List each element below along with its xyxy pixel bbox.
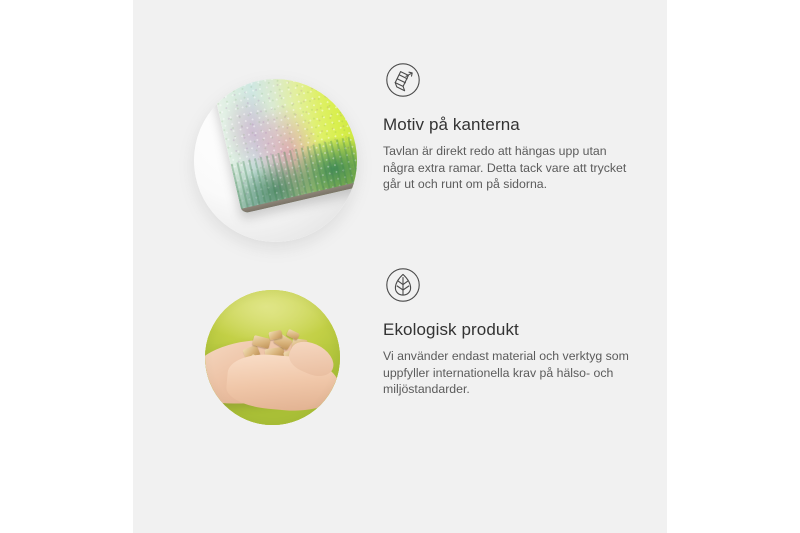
leaf-icon xyxy=(383,265,423,305)
feature-edge-print: Motiv på kanterna Tavlan är direkt redo … xyxy=(133,60,667,275)
feature-title: Motiv på kanterna xyxy=(383,114,663,136)
feature-description: Vi använder endast material och verktyg … xyxy=(383,348,641,398)
feature-text-block: Ekologisk produkt Vi använder endast mat… xyxy=(383,265,663,398)
feature-text-block: Motiv på kanterna Tavlan är direkt redo … xyxy=(383,60,663,193)
feature-eco-product: Ekologisk produkt Vi använder endast mat… xyxy=(133,265,667,480)
feature-title: Ekologisk produkt xyxy=(383,319,663,341)
feature-description: Tavlan är direkt redo att hängas upp uta… xyxy=(383,143,641,193)
photo-vignette xyxy=(205,290,340,425)
product-feature-panel: Motiv på kanterna Tavlan är direkt redo … xyxy=(0,0,800,533)
canvas-edge-wrap-icon xyxy=(383,60,423,100)
canvas-corner-photo xyxy=(194,79,357,242)
wood-chips-in-hands-photo xyxy=(205,290,340,425)
content-panel: Motiv på kanterna Tavlan är direkt redo … xyxy=(133,0,667,533)
